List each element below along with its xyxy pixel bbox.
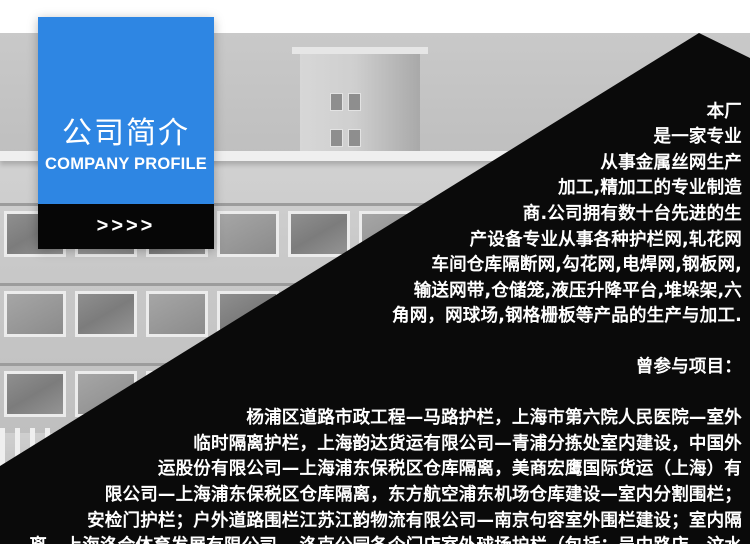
badge-blue-panel	[38, 17, 214, 204]
badge-title-cn: 公司简介	[38, 117, 214, 151]
chevron-right-icon: >>>>	[38, 215, 214, 238]
badge-title-en: COMPANY PROFILE	[38, 155, 214, 174]
profile-intro-text: 本厂 是一家专业 从事金属丝网生产 加工,精加工的专业制造 商.公司拥有数十台先…	[392, 102, 742, 327]
projects-list: 杨浦区道路市政工程—马路护栏，上海市第六院人民医院—室外 临时隔离护栏，上海韵达…	[12, 406, 742, 544]
photo-tower-roof	[292, 47, 428, 54]
company-profile-badge: 公司简介 COMPANY PROFILE >>>>	[38, 17, 214, 249]
projects-heading: 曾参与项目：	[12, 355, 742, 381]
company-profile-banner: 本厂 是一家专业 从事金属丝网生产 加工,精加工的专业制造 商.公司拥有数十台先…	[0, 0, 750, 544]
